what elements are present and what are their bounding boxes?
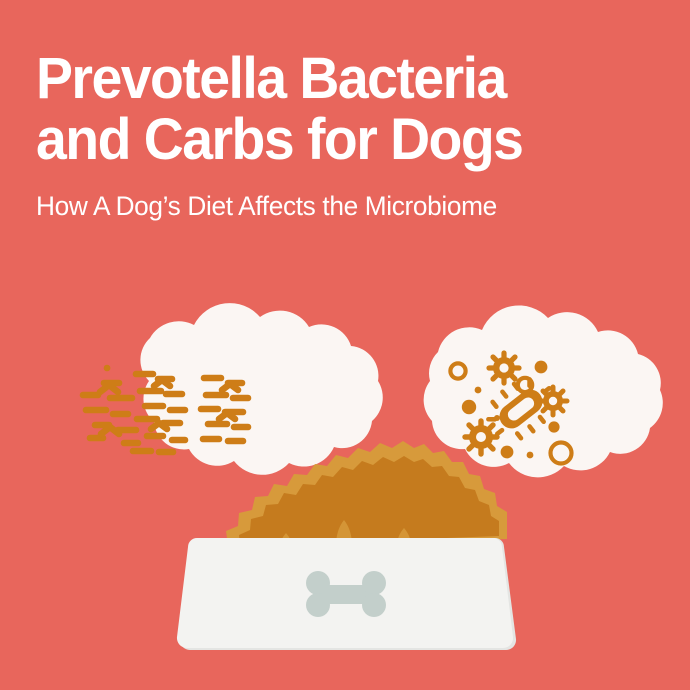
bacteria-microbes xyxy=(450,353,571,464)
microbe-ring-3 xyxy=(551,443,572,464)
microbe-dot-2 xyxy=(475,387,482,394)
kibble-highlight xyxy=(226,441,507,545)
microbe-ring-2 xyxy=(518,378,532,392)
dog-food-bowl xyxy=(177,441,516,650)
microbe-ring-1 xyxy=(450,363,465,378)
starch-dashes xyxy=(83,368,248,452)
microbe-dot-3 xyxy=(462,400,476,414)
microbe-rod xyxy=(479,368,564,450)
microbe-dot-4 xyxy=(548,421,559,432)
microbiome-cloud xyxy=(424,305,663,477)
bowl-body xyxy=(177,538,513,648)
microbe-spiky-1 xyxy=(489,353,519,383)
bone-emblem xyxy=(306,571,386,617)
microbe-dot-1 xyxy=(535,361,548,374)
microbe-dot-7 xyxy=(494,415,500,421)
microbe-rings xyxy=(450,363,571,463)
microbe-dots xyxy=(462,361,560,459)
carbohydrates-cloud xyxy=(83,303,383,475)
microbe-spiky-2 xyxy=(539,387,567,415)
microbe-dot-6 xyxy=(527,452,534,459)
poster-canvas: Prevotella Bacteria and Carbs for Dogs H… xyxy=(0,0,690,690)
text-block: Prevotella Bacteria and Carbs for Dogs H… xyxy=(36,48,661,222)
bowl-shadow xyxy=(180,538,516,650)
microbe-dot-5 xyxy=(501,446,514,459)
cloud-shape-left xyxy=(140,303,382,475)
page-subtitle: How A Dog’s Diet Affects the Microbiome xyxy=(36,170,655,222)
microbe-spiky-3 xyxy=(465,421,497,454)
kibble-streaks xyxy=(280,520,411,546)
page-title: Prevotella Bacteria and Carbs for Dogs xyxy=(36,48,633,170)
cloud-shape-right xyxy=(424,305,663,477)
kibble-fill xyxy=(239,456,499,546)
